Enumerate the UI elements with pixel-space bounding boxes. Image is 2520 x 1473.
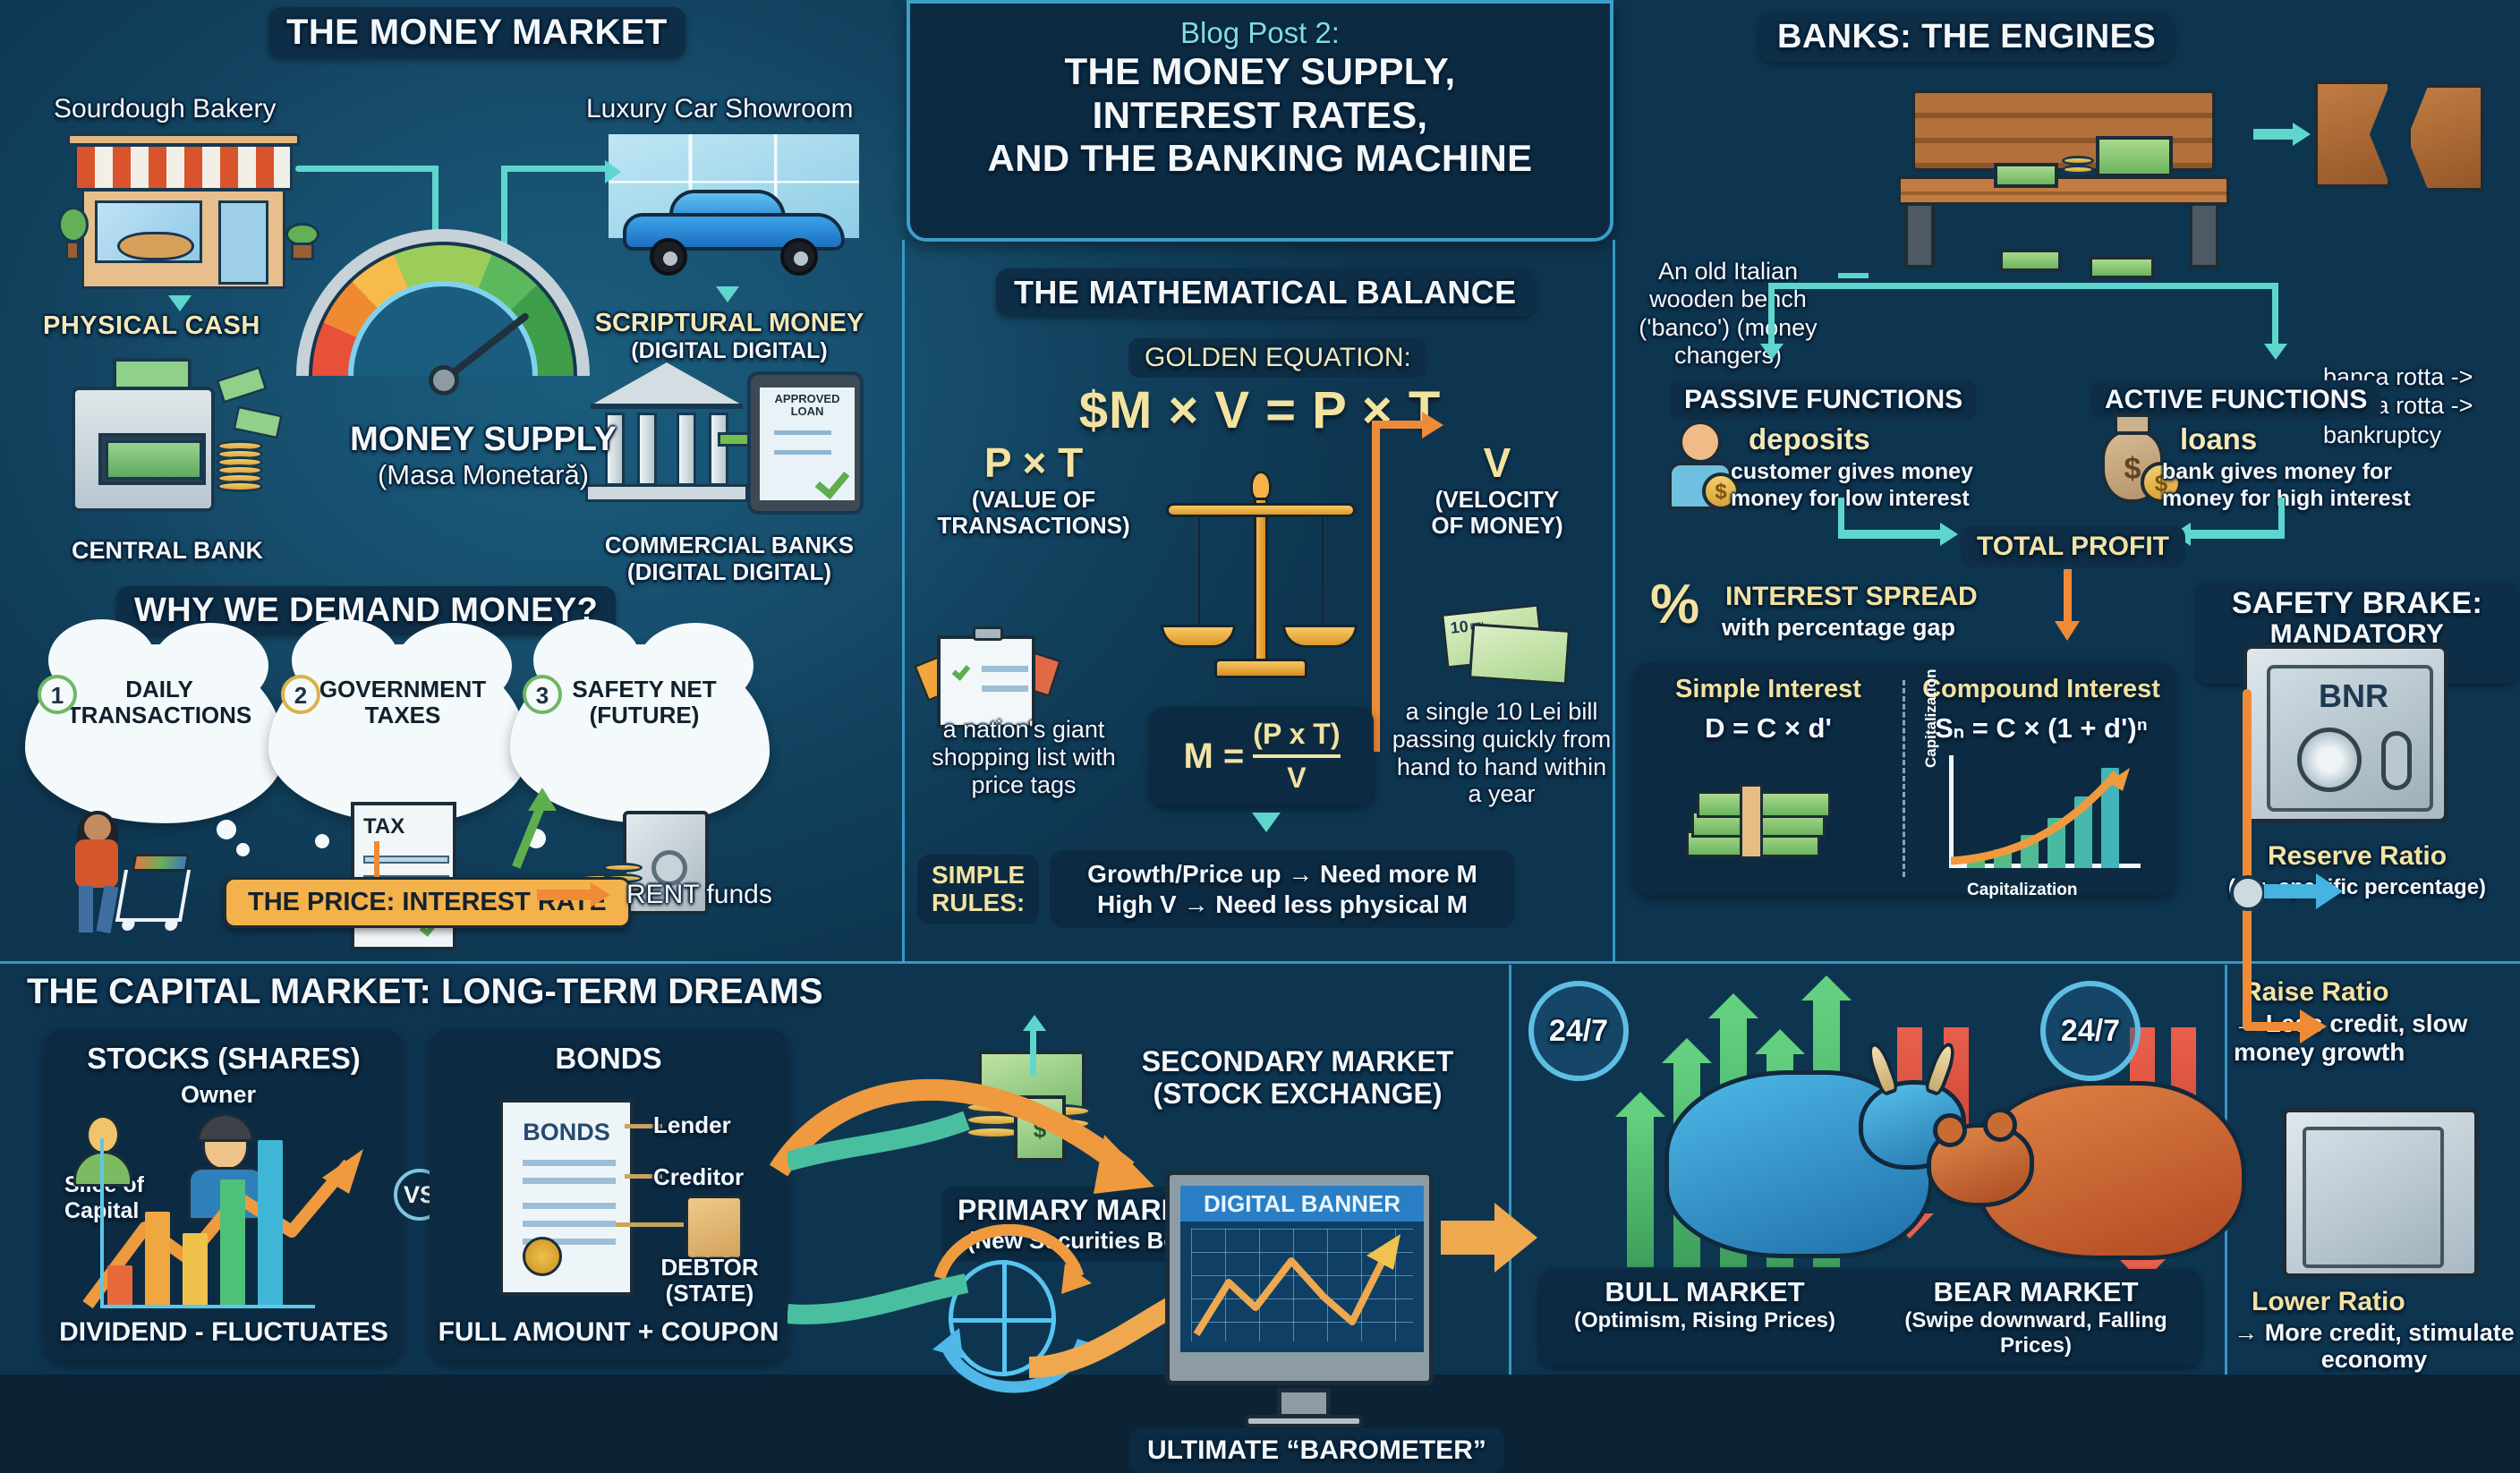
scriptural-money-sub: (DIGITAL DIGITAL) <box>582 338 877 364</box>
safety-brake-line1: SAFETY BRAKE: <box>2214 587 2500 620</box>
raise-ratio-arrowhead <box>2316 873 2343 909</box>
approved-loan-line1: APPROVED <box>760 393 855 405</box>
v-sub-1: (VELOCITY <box>1390 487 1605 513</box>
simple-rules-line1: SIMPLE <box>932 862 1025 890</box>
total-profit-chip: TOTAL PROFIT <box>1961 526 2185 567</box>
reserve-ratio-bus-arrowhead <box>2300 1009 2327 1043</box>
open-safe-icon <box>2282 1108 2479 1278</box>
bakery-storefront-icon <box>67 130 300 295</box>
approved-loan-tablet-icon: APPROVED LOAN <box>747 371 864 515</box>
secondary-market-heading: SECONDARY MARKET <box>1110 1045 1486 1077</box>
barometer-chip: ULTIMATE “BAROMETER” <box>1129 1428 1504 1473</box>
bnr-safe-icon: BNR <box>2243 644 2448 823</box>
bakery-label: Sourdough Bakery <box>54 94 277 124</box>
v-symbol-group: V (VELOCITY OF MONEY) <box>1390 438 1605 539</box>
raise-ratio-body: → Less credit, slow money growth <box>2234 1009 2520 1067</box>
shopper-icon <box>61 814 177 940</box>
lender-label: Lender <box>653 1111 731 1139</box>
reserve-ratio-bus <box>2243 689 2252 1029</box>
stocks-heading: STOCKS (SHARES) <box>45 1042 403 1076</box>
scriptural-money-title: SCRIPTURAL MONEY <box>582 309 877 338</box>
tax-document-icon: TAX <box>351 802 456 950</box>
bull-icon <box>1664 1070 1933 1258</box>
twentyfourseven-badge-left: 24/7 <box>1528 981 1629 1081</box>
compound-interest-chart: Capitalization Capitalization <box>1929 752 2153 877</box>
bond-certificate-icon: BONDS <box>499 1099 634 1296</box>
pt-note: a nation's giant shopping list with pric… <box>912 716 1136 798</box>
interest-comparison-card: Simple Interest D = C × d' Compound Inte… <box>1634 662 2175 895</box>
digital-banner-label: DIGITAL BANNER <box>1180 1186 1424 1222</box>
reserve-ratio-node <box>2230 875 2266 911</box>
loans-heading: loans <box>2180 422 2257 456</box>
banknote-value: 10 <box>1450 617 1469 638</box>
pt-symbol: P × T <box>926 438 1141 487</box>
tax-label: TAX <box>363 814 404 839</box>
growth-arrow-icon <box>528 788 557 811</box>
rent-funds-label: RENT funds <box>626 880 772 910</box>
secondary-market-label: SECONDARY MARKET (STOCK EXCHANGE) <box>1110 1045 1486 1111</box>
stocks-card: STOCKS (SHARES) Owner Slice of Capital <box>45 1029 403 1360</box>
rule-1: Growth/Price up → Need more M <box>1066 859 1499 890</box>
m-formula-numerator: (P x T) <box>1253 718 1340 751</box>
cash-stack-icon <box>1686 780 1838 861</box>
hero-line-1: THE MONEY SUPPLY, <box>910 50 1610 94</box>
deposits-heading: deposits <box>1749 422 1870 456</box>
bonds-heading: BONDS <box>430 1042 787 1076</box>
chart-x-label: Capitalization <box>1967 881 2078 900</box>
simple-rules-box: Growth/Price up → Need more M High V → N… <box>1050 850 1515 928</box>
commercial-banks-title: COMMERCIAL BANKS <box>573 532 886 559</box>
money-supply-title: MONEY SUPPLY <box>295 421 671 459</box>
raise-ratio-arrow <box>2264 884 2320 898</box>
reserve-ratio-bus-elbow <box>2243 1022 2305 1031</box>
money-supply-sub: (Masa Monetară) <box>295 459 671 491</box>
chart-y-label: Capitalization <box>1922 668 1940 768</box>
car-showroom-label: Luxury Car Showroom <box>586 94 853 124</box>
golden-equation-chip: GOLDEN EQUATION: <box>1128 338 1427 378</box>
capital-market-title: THE CAPITAL MARKET: LONG-TERM DREAMS <box>27 972 823 1012</box>
mathematical-balance-panel: Blog Post 2: THE MONEY SUPPLY, INTEREST … <box>907 0 1613 962</box>
debtor-label: DEBTOR (STATE) <box>643 1255 777 1306</box>
reason-3-number: 3 <box>523 675 562 714</box>
bull-caption: BULL MARKET (Optimism, Rising Prices) <box>1539 1276 1870 1358</box>
banks-title: BANKS: THE ENGINES <box>1759 13 2174 62</box>
owner-label: Owner <box>181 1081 256 1109</box>
hero-line-3: AND THE BANKING MACHINE <box>910 137 1610 181</box>
atm-cash-machine-icon <box>63 358 242 519</box>
market-line-chart <box>1191 1229 1413 1343</box>
debtor-line2: (STATE) <box>643 1281 777 1307</box>
rule-2: High V → Need less physical M <box>1066 890 1499 920</box>
interest-rate-price-chip: THE PRICE: INTEREST RATE <box>224 877 631 928</box>
money-supply-gauge-icon <box>309 242 577 394</box>
commercial-banks-sub: (DIGITAL DIGITAL) <box>573 559 886 586</box>
money-market-title: THE MONEY MARKET <box>268 7 685 58</box>
interest-spread-body: with percentage gap <box>1722 614 1955 642</box>
v-note: a single 10 Lei bill passing quickly fro… <box>1390 698 1613 808</box>
balance-scales-icon <box>1157 465 1363 689</box>
pt-symbol-group: P × T (VALUE OF TRANSACTIONS) <box>926 438 1141 539</box>
simple-interest-heading: Simple Interest <box>1634 675 1903 704</box>
bull-sub: (Optimism, Rising Prices) <box>1539 1308 1870 1333</box>
pt-sub-1: (VALUE OF <box>926 487 1141 513</box>
bear-icon <box>1978 1081 2246 1260</box>
hero-kicker: Blog Post 2: <box>910 16 1610 50</box>
divider-horizontal <box>0 961 2520 964</box>
v-symbol: V <box>1390 438 1605 487</box>
wooden-bench-icon <box>1885 89 2243 268</box>
car-showroom-icon <box>609 134 859 286</box>
simple-rules-chip: SIMPLE RULES: <box>917 855 1039 924</box>
lower-ratio-heading: Lower Ratio <box>2252 1287 2520 1317</box>
bear-sub: (Swipe downward, Falling Prices) <box>1870 1308 2201 1358</box>
loans-body: bank gives money for money for high inte… <box>2162 458 2466 512</box>
bonds-card: BONDS BONDS Lender Creditor DEBTOR (STAT… <box>430 1029 787 1360</box>
bond-certificate-label: BONDS <box>503 1119 630 1146</box>
reason-1-number: 1 <box>38 675 77 714</box>
v-sub-2: OF MONEY) <box>1390 513 1605 539</box>
m-formula-box: M = (P x T) V <box>1150 707 1374 805</box>
bull-heading: BULL MARKET <box>1539 1276 1870 1308</box>
m-formula-lhs: M = <box>1184 736 1245 777</box>
capital-market-panel: THE CAPITAL MARKET: LONG-TERM DREAMS STO… <box>0 965 2520 1375</box>
mathematical-balance-title: THE MATHEMATICAL BALANCE <box>996 268 1535 317</box>
divider-center-right <box>1613 240 1615 963</box>
stock-monitor-icon: DIGITAL BANNER <box>1165 1171 1434 1385</box>
percent-icon: % <box>1650 573 1699 636</box>
hero-line-2: INTEREST RATES, <box>910 94 1610 138</box>
scriptural-money-label: SCRIPTURAL MONEY (DIGITAL DIGITAL) <box>582 309 877 364</box>
passive-functions-chip: PASSIVE FUNCTIONS <box>1670 380 1977 420</box>
compound-interest-formula: Sₙ = C × (1 + d')ⁿ <box>1907 712 2175 745</box>
m-formula-denominator: V <box>1253 762 1340 795</box>
divider-left-center <box>902 240 905 963</box>
bull-bear-caption-bar: BULL MARKET (Optimism, Rising Prices) BE… <box>1539 1269 2201 1366</box>
commercial-banks-label: COMMERCIAL BANKS (DIGITAL DIGITAL) <box>573 532 886 586</box>
raise-ratio-heading: Raise Ratio <box>2243 977 2520 1008</box>
hero-title-box: Blog Post 2: THE MONEY SUPPLY, INTEREST … <box>907 0 1613 242</box>
creditor-label: Creditor <box>653 1163 744 1191</box>
physical-cash-label: PHYSICAL CASH <box>43 311 260 341</box>
deposits-body: customer gives money money for low inter… <box>1731 458 2026 512</box>
stocks-footer: DIVIDEND - FLUCTUATES <box>45 1317 403 1348</box>
bear-caption: BEAR MARKET (Swipe downward, Falling Pri… <box>1870 1276 2201 1358</box>
simple-rules-line2: RULES: <box>932 890 1025 917</box>
compound-growth-curve <box>1951 768 2139 868</box>
banks-panel: BANKS: THE ENGINES An old Italian wooden… <box>1616 0 2520 962</box>
debtor-bag-icon <box>685 1196 743 1260</box>
arrow-cards-to-primary <box>787 1108 984 1358</box>
compound-interest-heading: Compound Interest <box>1907 675 2175 704</box>
banknote-icon-2 <box>1469 623 1571 685</box>
bench-note: An old Italian wooden bench ('banco') (m… <box>1625 258 1831 370</box>
lower-ratio-body: → More credit, stimulate economy <box>2228 1319 2520 1373</box>
bnr-label: BNR <box>2270 677 2437 715</box>
golden-equation: $M × V = P × T <box>907 380 1613 440</box>
secondary-market-sub: (STOCK EXCHANGE) <box>1110 1077 1486 1110</box>
bull-bear-section: 24/7 24/7 BULL MARKET (Optimism, Rising … <box>1512 965 2228 1375</box>
twentyfourseven-badge-right: 24/7 <box>2040 981 2141 1081</box>
broken-bench-icon <box>2314 81 2484 197</box>
reason-2-number: 2 <box>281 675 320 714</box>
simple-interest-formula: D = C × d' <box>1634 712 1903 745</box>
approved-loan-line2: LOAN <box>760 405 855 418</box>
bonds-footer: FULL AMOUNT + COUPON <box>430 1317 787 1348</box>
bear-heading: BEAR MARKET <box>1870 1276 2201 1308</box>
interest-spread-heading: INTEREST SPREAD <box>1725 582 1978 612</box>
debtor-line1: DEBTOR <box>643 1255 777 1281</box>
pt-sub-2: TRANSACTIONS) <box>926 513 1141 539</box>
central-bank-label: CENTRAL BANK <box>72 537 263 565</box>
money-supply-label: MONEY SUPPLY (Masa Monetară) <box>295 421 671 491</box>
money-market-panel: THE MONEY MARKET Sourdough Bakery Luxury… <box>0 0 904 962</box>
bear-head-icon <box>1927 1123 2034 1207</box>
